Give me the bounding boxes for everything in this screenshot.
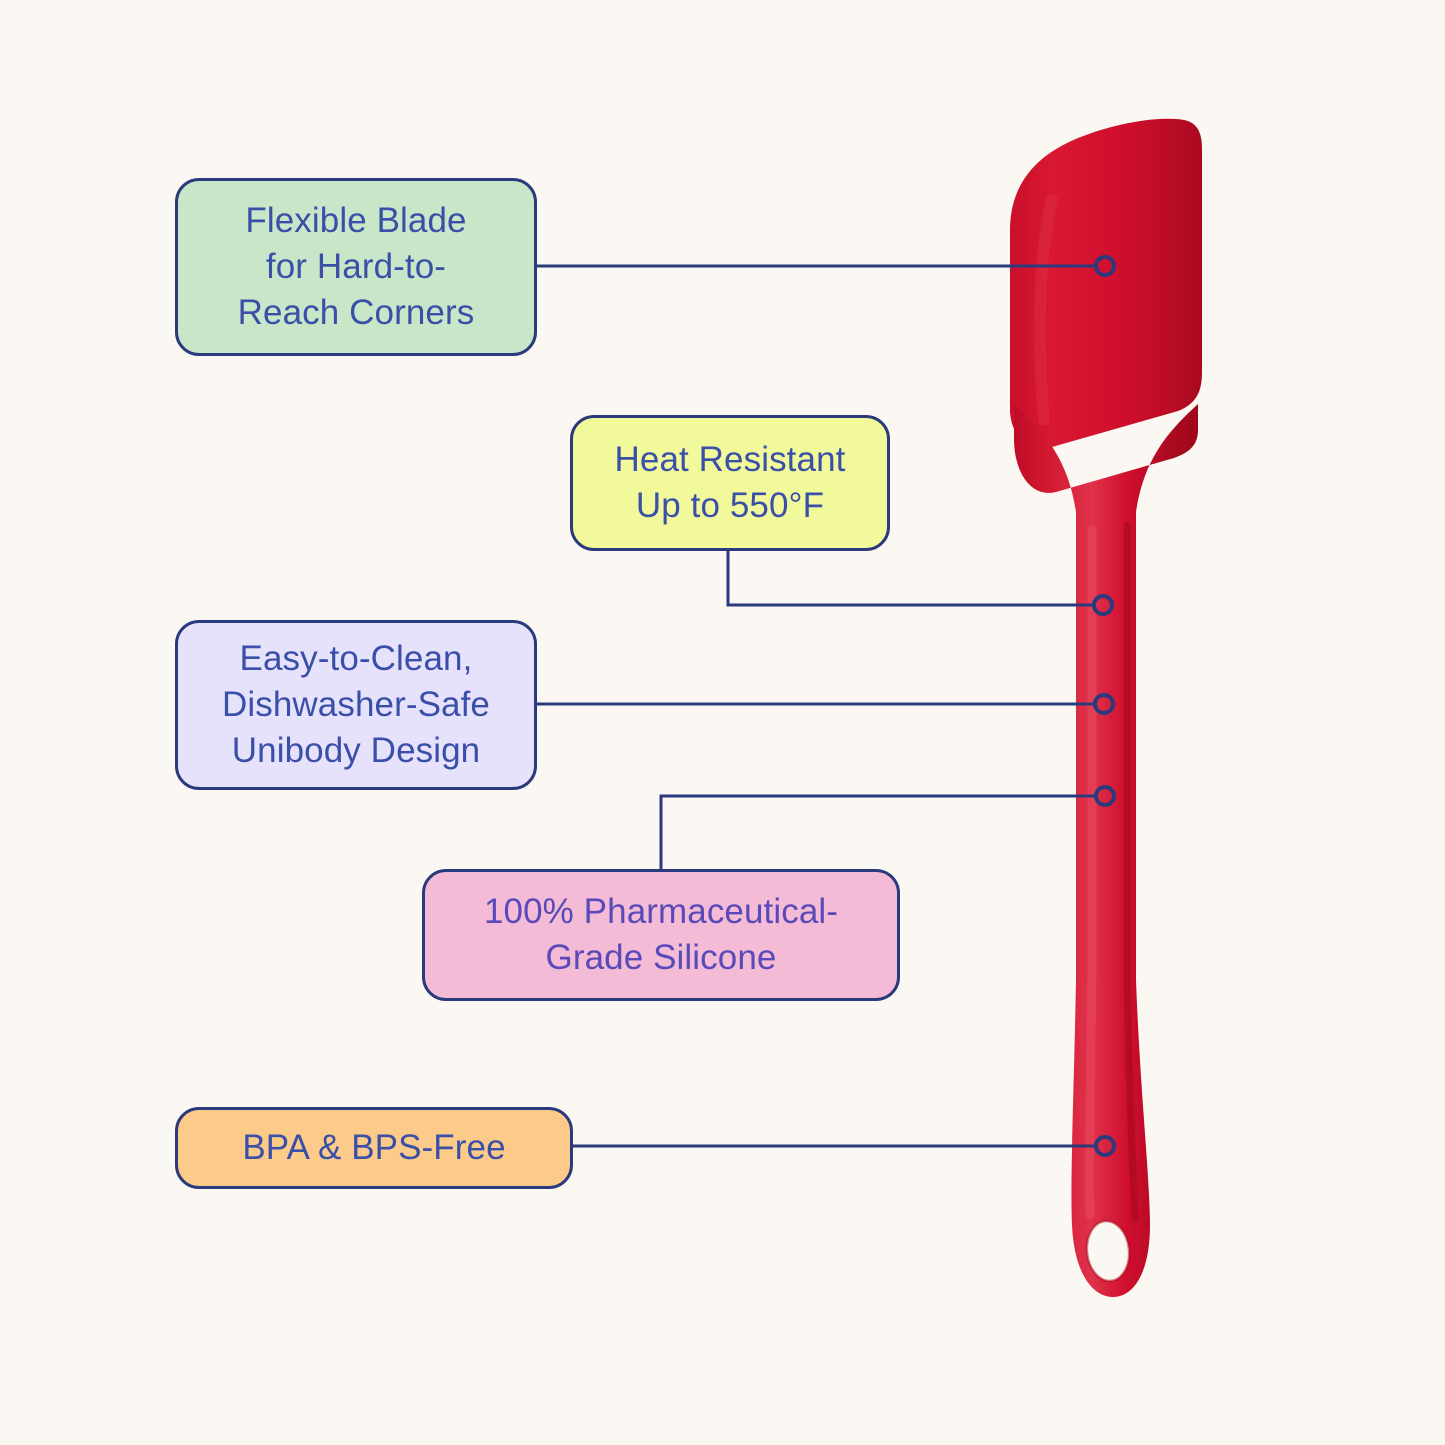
connector-heat-resistant — [728, 551, 1095, 605]
callout-bpa-free-line-1: BPA & BPS-Free — [242, 1125, 505, 1171]
callout-flexible-blade-line-3: Reach Corners — [238, 290, 475, 336]
callout-silicone-line-2: Grade Silicone — [484, 935, 838, 981]
callout-easy-clean-line-1: Easy-to-Clean, — [222, 636, 490, 682]
connector-pharmaceutical-silicone — [661, 796, 1097, 869]
callout-flexible-blade-line-2: for Hard-to- — [238, 244, 475, 290]
spatula-handle — [1014, 404, 1198, 1297]
callout-easy-clean-line-2: Dishwasher-Safe — [222, 682, 490, 728]
callout-pharmaceutical-silicone: 100% Pharmaceutical- Grade Silicone — [422, 869, 900, 1001]
callout-easy-clean-line-3: Unibody Design — [222, 728, 490, 774]
callout-bpa-free: BPA & BPS-Free — [175, 1107, 573, 1189]
callout-flexible-blade-line-1: Flexible Blade — [238, 198, 475, 244]
spatula-body — [1010, 119, 1202, 1297]
callout-easy-clean: Easy-to-Clean, Dishwasher-Safe Unibody D… — [175, 620, 537, 790]
product-feature-infographic: Flexible Blade for Hard-to- Reach Corner… — [0, 0, 1445, 1445]
handle-highlight — [1089, 530, 1092, 1215]
callout-heat-resistant-line-2: Up to 550°F — [615, 483, 846, 529]
callout-silicone-line-1: 100% Pharmaceutical- — [484, 889, 838, 935]
callout-heat-resistant-line-1: Heat Resistant — [615, 437, 846, 483]
callout-flexible-blade: Flexible Blade for Hard-to- Reach Corner… — [175, 178, 537, 356]
callout-heat-resistant: Heat Resistant Up to 550°F — [570, 415, 890, 551]
